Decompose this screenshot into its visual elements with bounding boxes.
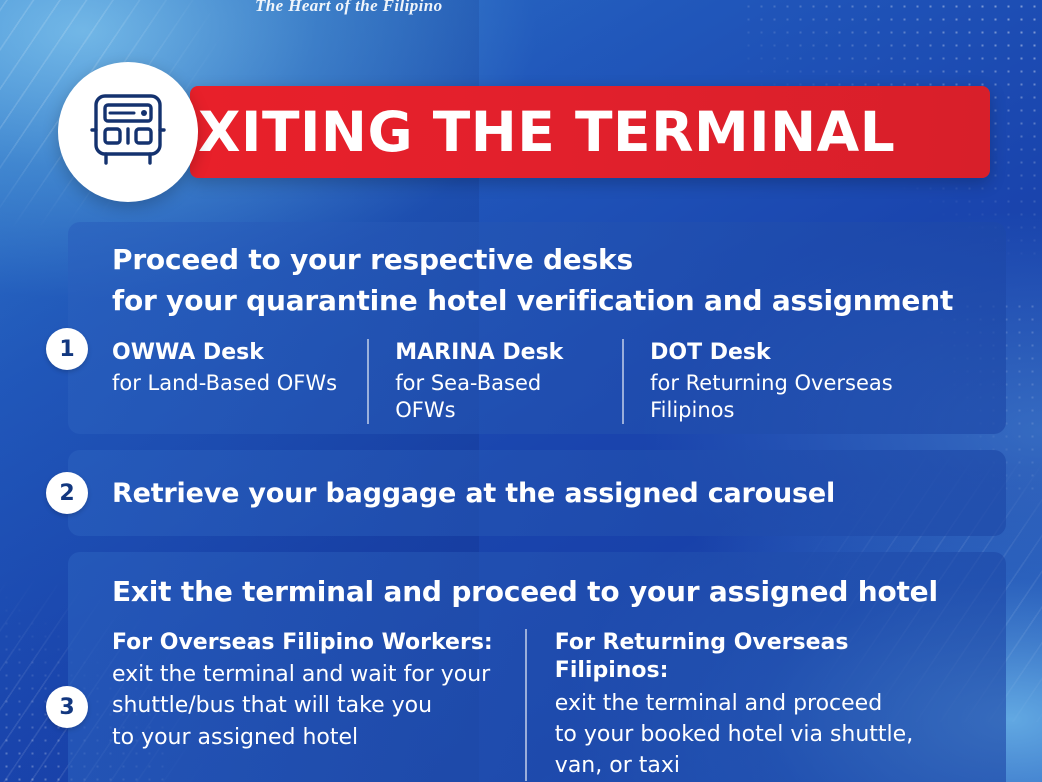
bus-icon: [82, 90, 174, 175]
desk-title: OWWA Desk: [112, 339, 341, 367]
page-title: EXITING THE TERMINAL: [160, 100, 895, 164]
column-body: exit the terminal and wait for your shut…: [112, 659, 497, 753]
desk-item-marina: MARINA Desk for Sea-Based OFWs: [367, 339, 622, 424]
column-ofw: For Overseas Filipino Workers: exit the …: [112, 629, 525, 782]
step-3-columns: For Overseas Filipino Workers: exit the …: [112, 629, 982, 782]
desk-subtitle: for Land-Based OFWs: [112, 370, 341, 397]
desk-subtitle: for Returning Overseas Filipinos: [650, 370, 956, 425]
tagline: The Heart of the Filipino: [255, 0, 443, 16]
header: EXITING THE TERMINAL: [68, 86, 990, 178]
desk-list: OWWA Desk for Land-Based OFWs MARINA Des…: [112, 339, 982, 424]
step-number-badge: 1: [46, 328, 88, 370]
step-1-content: Proceed to your respective desks for you…: [112, 222, 982, 434]
desk-title: MARINA Desk: [395, 339, 596, 367]
step-2-content: Retrieve your baggage at the assigned ca…: [112, 450, 982, 536]
header-icon-circle: [58, 62, 198, 202]
step-card-3: 3 Exit the terminal and proceed to your …: [68, 552, 1006, 782]
step-number-badge: 3: [46, 686, 88, 728]
desk-item-owwa: OWWA Desk for Land-Based OFWs: [112, 339, 367, 424]
column-title: For Overseas Filipino Workers:: [112, 629, 497, 658]
desk-item-dot: DOT Desk for Returning Overseas Filipino…: [622, 339, 982, 424]
step-1-heading-line-2: for your quarantine hotel verification a…: [112, 281, 982, 322]
step-card-2: 2 Retrieve your baggage at the assigned …: [68, 450, 1006, 536]
step-number-badge: 2: [46, 472, 88, 514]
step-card-1: 1 Proceed to your respective desks for y…: [68, 222, 1006, 434]
desk-title: DOT Desk: [650, 339, 956, 367]
column-title: For Returning Overseas Filipinos:: [555, 629, 954, 686]
column-rof: For Returning Overseas Filipinos: exit t…: [525, 629, 982, 782]
step-3-heading: Exit the terminal and proceed to your as…: [112, 552, 982, 613]
step-3-content: Exit the terminal and proceed to your as…: [112, 552, 982, 782]
desk-subtitle: for Sea-Based OFWs: [395, 370, 596, 425]
step-2-heading: Retrieve your baggage at the assigned ca…: [112, 450, 982, 513]
column-body: exit the terminal and proceed to your bo…: [555, 688, 954, 782]
step-1-heading-line-1: Proceed to your respective desks: [112, 240, 982, 281]
